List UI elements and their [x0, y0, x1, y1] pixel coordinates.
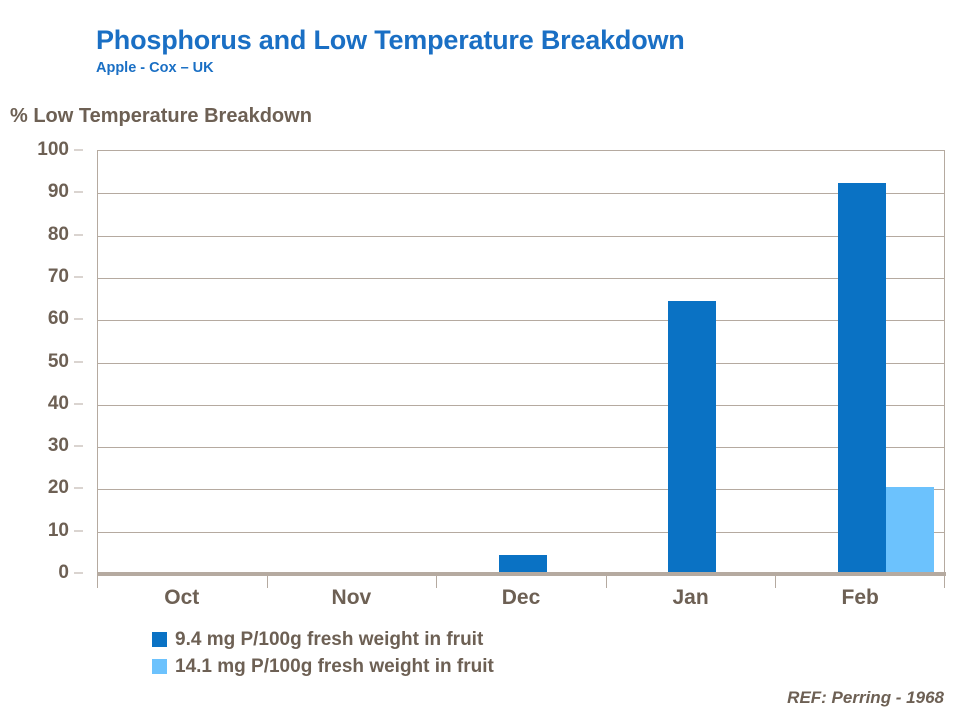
- y-axis-tick-mark: [74, 234, 83, 235]
- y-axis-tick-label: 60: [48, 308, 69, 330]
- y-axis-tick-mark: [74, 530, 83, 531]
- y-axis-tick-label: 50: [48, 351, 69, 373]
- x-axis-label-jan: Jan: [673, 586, 709, 610]
- legend-swatch-icon: [152, 659, 167, 674]
- y-axis-title: % Low Temperature Breakdown: [10, 105, 312, 128]
- plot-frame: [97, 150, 945, 573]
- y-axis-tick-mark: [74, 573, 83, 574]
- plot-area: [97, 150, 945, 573]
- legend-item-label: 14.1 mg P/100g fresh weight in fruit: [175, 656, 494, 678]
- y-axis-tick-mark: [74, 488, 83, 489]
- y-axis-tick-label: 40: [48, 393, 69, 415]
- chart-legend: 9.4 mg P/100g fresh weight in fruit14.1 …: [152, 626, 494, 680]
- y-axis-tick-label: 100: [37, 139, 69, 161]
- y-axis-tick-label: 30: [48, 435, 69, 457]
- y-axis-tick-label: 80: [48, 224, 69, 246]
- bar-feb-series-2[interactable]: [886, 487, 934, 572]
- y-axis-tick-mark: [74, 446, 83, 447]
- page-title: Phosphorus and Low Temperature Breakdown: [96, 24, 916, 56]
- y-axis-tick-mark: [74, 319, 83, 320]
- bars-layer: [98, 151, 944, 572]
- bar-dec-series-1[interactable]: [499, 555, 547, 572]
- y-axis-tick-label: 20: [48, 477, 69, 499]
- reference-note: REF: Perring - 1968: [787, 688, 944, 708]
- x-axis-label-nov: Nov: [332, 586, 372, 610]
- title-block: Phosphorus and Low Temperature Breakdown…: [96, 24, 916, 78]
- page-subtitle: Apple - Cox – UK: [96, 58, 916, 78]
- y-axis-ticks: 1009080706050403020100: [0, 150, 83, 573]
- y-axis-tick-label: 90: [48, 181, 69, 203]
- y-axis-tick-label: 70: [48, 266, 69, 288]
- x-axis-label-feb: Feb: [842, 586, 879, 610]
- y-axis-tick-mark: [74, 192, 83, 193]
- legend-item-2[interactable]: 14.1 mg P/100g fresh weight in fruit: [152, 653, 494, 680]
- x-axis-label-oct: Oct: [164, 586, 199, 610]
- bar-feb-series-1[interactable]: [838, 183, 886, 572]
- y-axis-tick-label: 10: [48, 520, 69, 542]
- y-axis-tick-mark: [74, 150, 83, 151]
- bar-jan-series-1[interactable]: [668, 301, 716, 572]
- y-axis-tick-mark: [74, 276, 83, 277]
- y-axis-tick-label: 0: [58, 562, 69, 584]
- y-axis-tick-mark: [74, 403, 83, 404]
- y-axis-tick-mark: [74, 361, 83, 362]
- legend-item-label: 9.4 mg P/100g fresh weight in fruit: [175, 629, 483, 651]
- x-axis-labels: OctNovDecJanFeb: [97, 586, 945, 616]
- legend-item-1[interactable]: 9.4 mg P/100g fresh weight in fruit: [152, 626, 494, 653]
- x-axis-label-dec: Dec: [502, 586, 541, 610]
- legend-swatch-icon: [152, 632, 167, 647]
